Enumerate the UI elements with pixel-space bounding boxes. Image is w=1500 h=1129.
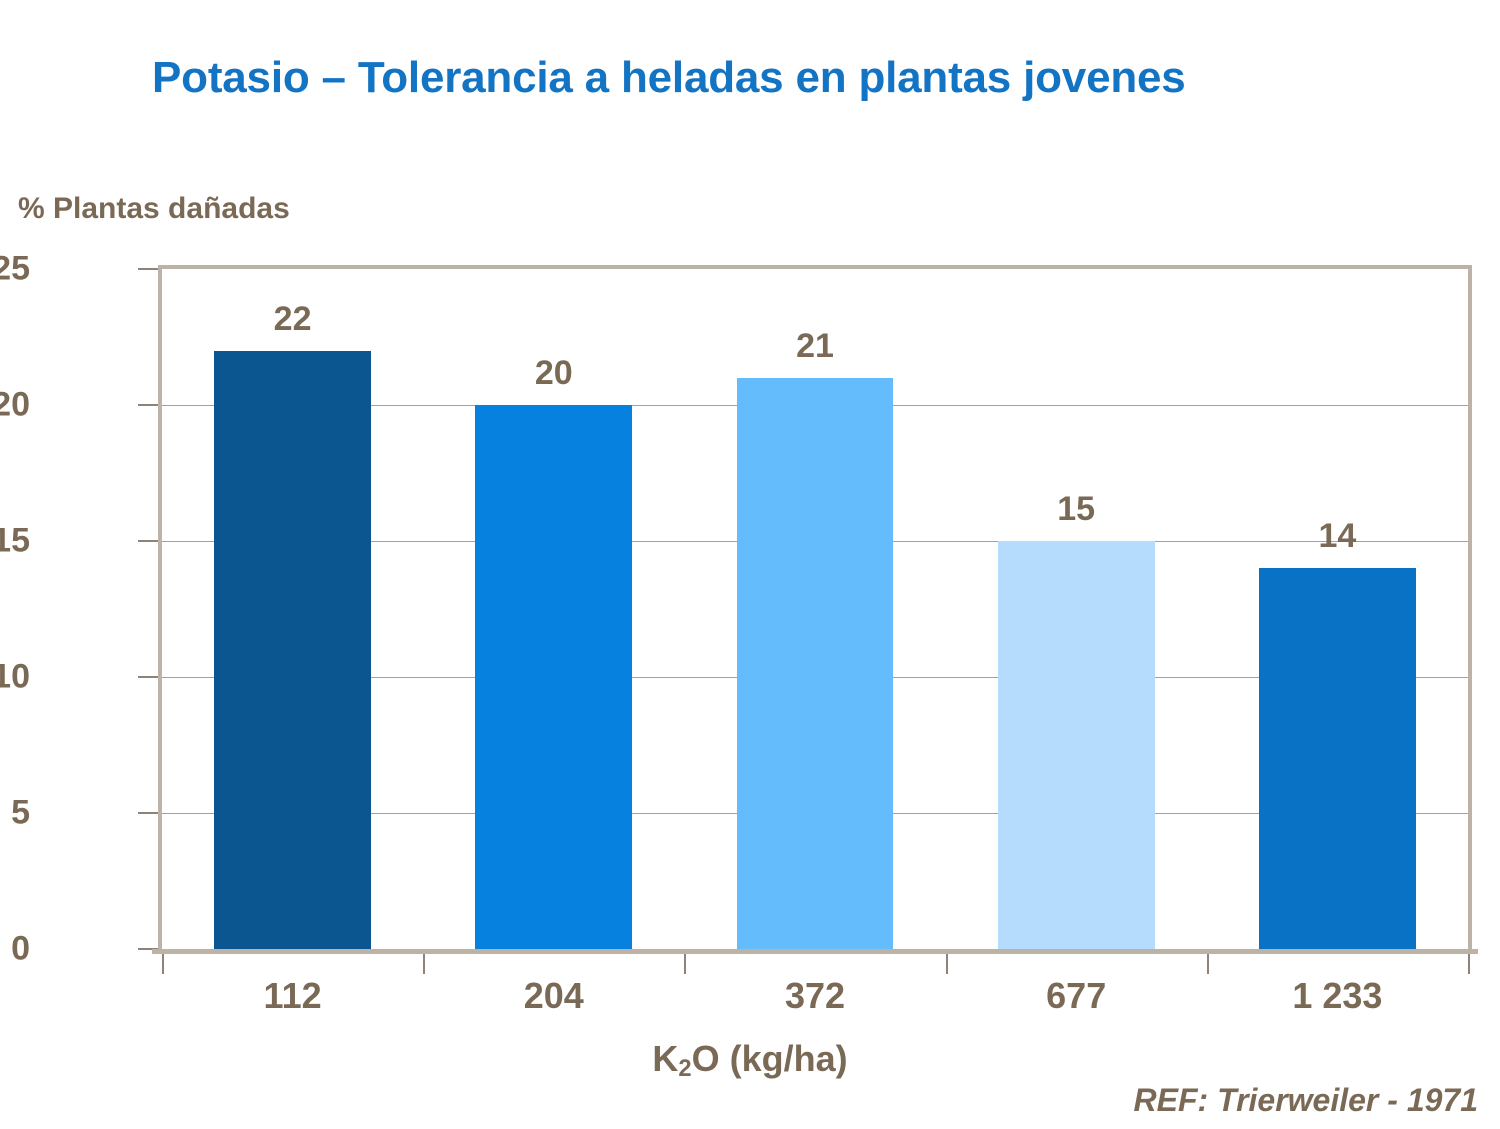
x-tick-label: 204 bbox=[524, 975, 584, 1017]
y-tick-mark bbox=[138, 268, 158, 270]
bar-value-label: 22 bbox=[214, 300, 371, 339]
bar-value-label: 21 bbox=[737, 327, 894, 366]
x-tick-mark bbox=[946, 954, 948, 974]
y-tick-mark bbox=[138, 812, 158, 814]
x-tick-mark bbox=[1207, 954, 1209, 974]
y-axis-caption: % Plantas dañadas bbox=[18, 192, 290, 226]
bar-value-label: 20 bbox=[475, 354, 632, 393]
bar[interactable] bbox=[737, 378, 894, 949]
bar[interactable] bbox=[1259, 568, 1416, 949]
plot-inner: 2220211514 bbox=[162, 269, 1468, 949]
y-tick-label: 20 bbox=[0, 386, 30, 425]
chart-plot-area: 2220211514 bbox=[158, 265, 1472, 953]
x-tick-label: 677 bbox=[1046, 975, 1106, 1017]
x-axis-title: K2O (kg/ha) bbox=[0, 1038, 1500, 1080]
x-tick-mark bbox=[162, 954, 164, 974]
page-title: Potasio – Tolerancia a heladas en planta… bbox=[152, 48, 1272, 107]
y-tick-label: 0 bbox=[0, 930, 30, 969]
x-tick-label: 1 233 bbox=[1292, 975, 1382, 1017]
x-axis-title-main: K bbox=[652, 1038, 678, 1079]
x-tick-label: 372 bbox=[785, 975, 845, 1017]
x-tick-mark bbox=[423, 954, 425, 974]
y-tick-mark bbox=[138, 404, 158, 406]
y-tick-label: 25 bbox=[0, 250, 30, 289]
x-tick-mark bbox=[684, 954, 686, 974]
y-tick-label: 10 bbox=[0, 658, 30, 697]
x-axis-line bbox=[152, 949, 1478, 954]
slide-canvas: Potasio – Tolerancia a heladas en planta… bbox=[0, 0, 1500, 1129]
bar-value-label: 14 bbox=[1259, 517, 1416, 556]
bar[interactable] bbox=[475, 405, 632, 949]
x-tick-label: 112 bbox=[264, 975, 322, 1017]
x-axis-title-rest: O (kg/ha) bbox=[692, 1038, 848, 1079]
y-tick-mark bbox=[138, 676, 158, 678]
y-tick-mark bbox=[138, 540, 158, 542]
y-tick-label: 5 bbox=[0, 794, 30, 833]
bar-value-label: 15 bbox=[998, 490, 1155, 529]
reference-note: REF: Trierweiler - 1971 bbox=[1134, 1082, 1478, 1119]
y-tick-label: 15 bbox=[0, 522, 30, 561]
bar[interactable] bbox=[214, 351, 371, 949]
x-tick-mark bbox=[1468, 954, 1470, 974]
x-axis-title-subscript: 2 bbox=[678, 1055, 691, 1082]
bar[interactable] bbox=[998, 541, 1155, 949]
